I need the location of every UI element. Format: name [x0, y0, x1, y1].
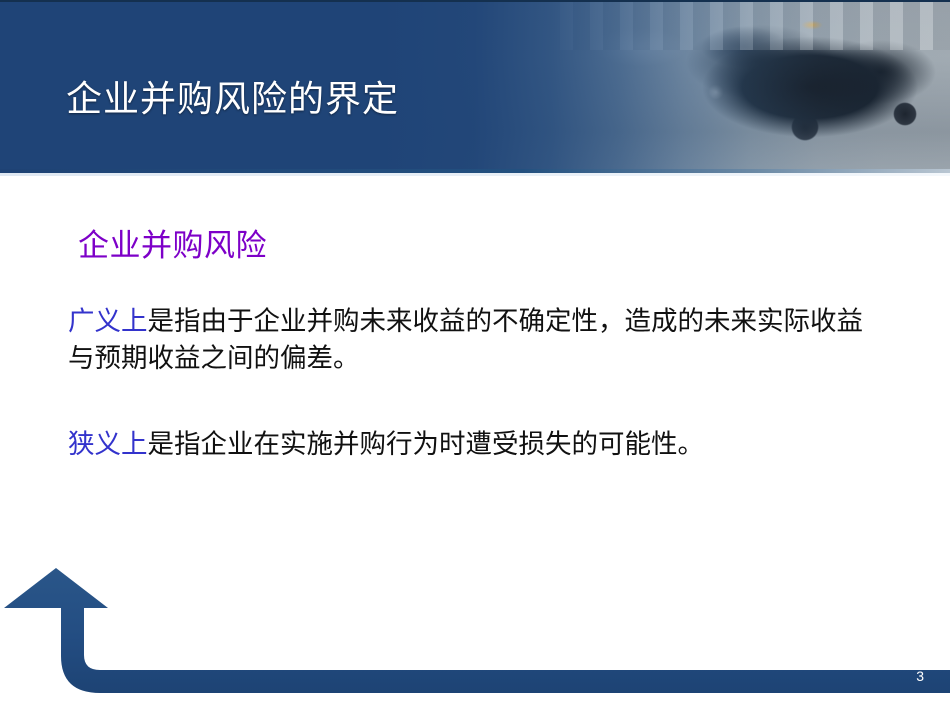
paragraph-lead-narrow: 狭义上 — [68, 429, 148, 460]
paragraph-lead-broad: 广义上 — [68, 306, 148, 337]
paragraph-text-broad: 是指由于企业并购未来收益的不确定性，造成的未来实际收益与预期收益之间的偏差。 — [68, 306, 863, 374]
section-heading: 企业并购风险 — [78, 220, 267, 265]
up-turn-arrow — [0, 560, 950, 695]
slide: 企业并购风险的界定 企业并购风险 广义上是指由于企业并购未来收益的不确定性，造成… — [0, 0, 950, 713]
arrow-shape — [4, 568, 950, 693]
paragraph-text-narrow: 是指企业在实施并购行为时遭受损失的可能性。 — [148, 429, 705, 460]
definition-paragraph-broad: 广义上是指由于企业并购未来收益的不确定性，造成的未来实际收益与预期收益之间的偏差… — [68, 303, 868, 377]
definition-paragraph-narrow: 狭义上是指企业在实施并购行为时遭受损失的可能性。 — [68, 426, 868, 463]
page-number: 3 — [916, 668, 924, 684]
page-title: 企业并购风险的界定 — [66, 70, 399, 122]
